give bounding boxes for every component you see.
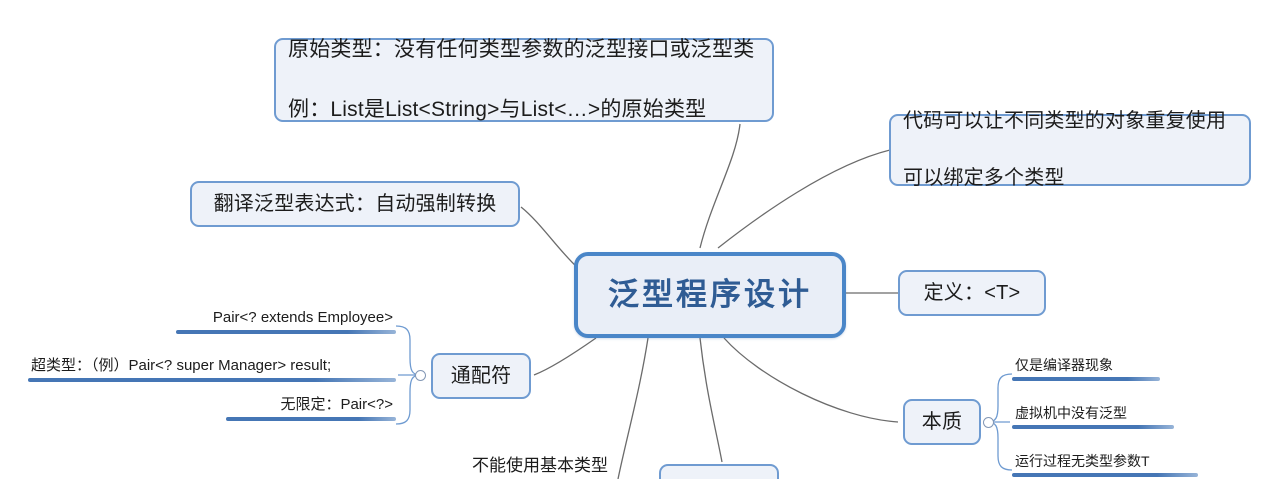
- node-raw-type-text: 原始类型：没有任何类型参数的泛型接口或泛型类 例：List是List<Strin…: [288, 5, 754, 154]
- essence-item-no-type-param-at-runtime[interactable]: 运行过程无类型参数T: [1012, 453, 1198, 477]
- node-essence[interactable]: 本质: [903, 399, 981, 445]
- wildcard-item-super[interactable]: 超类型：（例）Pair<? super Manager> result;: [28, 357, 396, 382]
- node-wildcard[interactable]: 通配符: [431, 353, 531, 399]
- wildcard-item-unbounded-label: 无限定：Pair<?>: [226, 396, 396, 417]
- wildcard-item-extends-rule: [176, 330, 396, 334]
- essence-collapse-handle[interactable]: [983, 417, 994, 428]
- essence-item-no-generics-in-vm[interactable]: 虚拟机中没有泛型: [1012, 405, 1174, 429]
- node-cut-off-bottom[interactable]: [659, 464, 779, 479]
- node-code-reuse-text: 代码可以让不同类型的对象重复使用 可以绑定多个类型: [903, 79, 1226, 221]
- essence-item-no-type-param-at-runtime-label: 运行过程无类型参数T: [1012, 453, 1198, 473]
- essence-item-no-generics-in-vm-label: 虚拟机中没有泛型: [1012, 405, 1174, 425]
- essence-item-compiler-only[interactable]: 仅是编译器现象: [1012, 357, 1160, 381]
- node-translate-expression[interactable]: 翻译泛型表达式：自动强制转换: [190, 181, 520, 227]
- node-raw-type[interactable]: 原始类型：没有任何类型参数的泛型接口或泛型类 例：List是List<Strin…: [274, 38, 774, 122]
- node-code-reuse-line2: 可以绑定多个类型: [903, 164, 1226, 192]
- node-definition[interactable]: 定义：<T>: [898, 270, 1046, 316]
- wildcard-item-extends-label: Pair<? extends Employee>: [176, 309, 396, 330]
- mind-map-canvas: 泛型程序设计 原始类型：没有任何类型参数的泛型接口或泛型类 例：List是Lis…: [0, 0, 1280, 479]
- label-no-primitive-types: 不能使用基本类型: [472, 451, 608, 476]
- wildcard-item-super-label: 超类型：（例）Pair<? super Manager> result;: [28, 357, 396, 378]
- node-code-reuse[interactable]: 代码可以让不同类型的对象重复使用 可以绑定多个类型: [889, 114, 1251, 186]
- essence-item-compiler-only-rule: [1012, 377, 1160, 381]
- wildcard-item-unbounded[interactable]: 无限定：Pair<?>: [226, 396, 396, 421]
- root-node[interactable]: 泛型程序设计: [574, 252, 846, 338]
- node-raw-type-line1: 原始类型：没有任何类型参数的泛型接口或泛型类: [288, 35, 754, 65]
- essence-item-no-generics-in-vm-rule: [1012, 425, 1174, 429]
- essence-item-no-type-param-at-runtime-rule: [1012, 473, 1198, 477]
- wildcard-item-extends[interactable]: Pair<? extends Employee>: [176, 309, 396, 334]
- essence-item-compiler-only-label: 仅是编译器现象: [1012, 357, 1160, 377]
- wildcard-item-unbounded-rule: [226, 417, 396, 421]
- node-raw-type-line2: 例：List是List<String>与List<…>的原始类型: [288, 95, 754, 125]
- node-code-reuse-line1: 代码可以让不同类型的对象重复使用: [903, 107, 1226, 135]
- wildcard-collapse-handle[interactable]: [415, 370, 426, 381]
- wildcard-item-super-rule: [28, 378, 396, 382]
